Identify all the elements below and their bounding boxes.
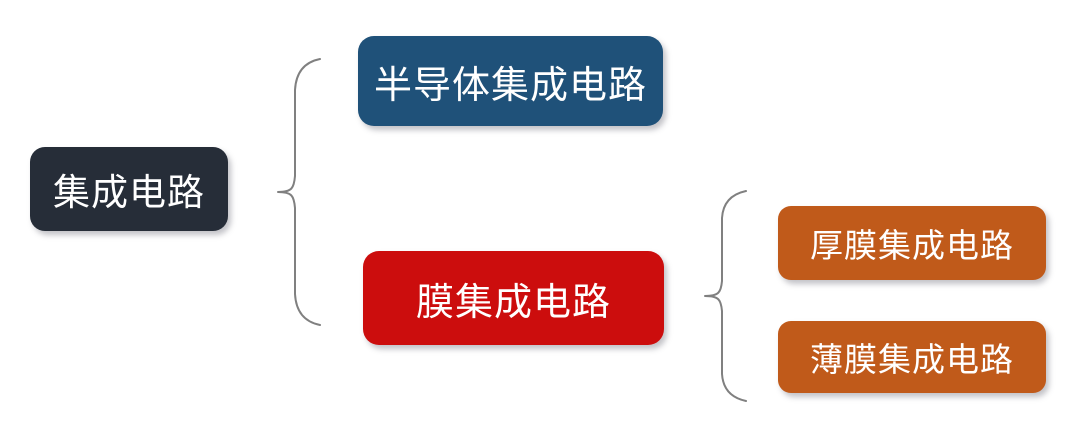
node-label: 半导体集成电路: [374, 54, 647, 109]
node-label: 膜集成电路: [416, 271, 611, 326]
node-film-integrated-circuit[interactable]: 膜集成电路: [363, 251, 664, 345]
node-semiconductor-integrated-circuit[interactable]: 半导体集成电路: [358, 36, 663, 126]
node-label: 集成电路: [53, 162, 205, 216]
node-label: 厚膜集成电路: [810, 219, 1014, 267]
brace-left-icon: [272, 52, 342, 332]
brace-right-icon: [700, 188, 772, 404]
node-thick-film-integrated-circuit[interactable]: 厚膜集成电路: [778, 206, 1046, 280]
node-integrated-circuit[interactable]: 集成电路: [30, 147, 228, 231]
node-label: 薄膜集成电路: [810, 333, 1014, 381]
diagram-canvas: 集成电路 半导体集成电路 膜集成电路 厚膜集成电路 薄膜集成电路: [0, 0, 1080, 436]
node-thin-film-integrated-circuit[interactable]: 薄膜集成电路: [778, 321, 1046, 393]
